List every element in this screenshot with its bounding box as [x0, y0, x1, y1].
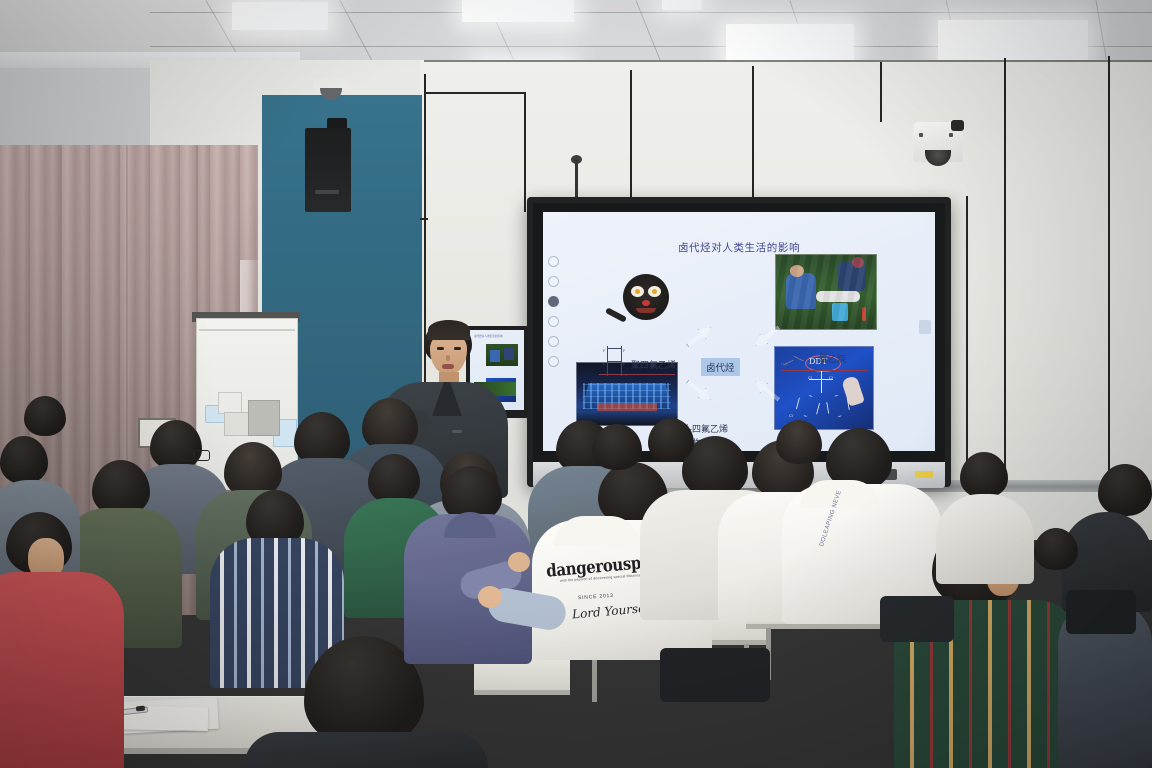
- instructor-eye-left: [437, 347, 444, 350]
- shapes-icon[interactable]: [548, 336, 559, 347]
- instructor-nose: [446, 355, 450, 361]
- whiteboard-frame-line: [880, 62, 882, 122]
- whiteboard-frame-line: [966, 196, 968, 486]
- ceiling-led-panel: [462, 0, 574, 22]
- undo-icon[interactable]: [548, 256, 559, 267]
- student-head: [960, 452, 1008, 498]
- whiteboard-frame-line: [424, 92, 526, 94]
- student-head: [1034, 528, 1078, 570]
- chair-back: [660, 648, 770, 702]
- pan-handle: [605, 307, 627, 323]
- student-head: [648, 418, 694, 462]
- eyeglasses: [194, 450, 210, 461]
- whiteboard-frame-line: [524, 92, 526, 212]
- smartboard-toolbar[interactable]: [546, 254, 560, 372]
- ptfe-structure-sketch: F F F F n: [601, 346, 631, 376]
- cabinet-plate: [248, 400, 280, 436]
- sports-injury-photo: [775, 254, 877, 330]
- preview-title: 卤代烃对人类生活的影响: [474, 334, 503, 338]
- student-head: [368, 454, 420, 504]
- chair-back: [1066, 590, 1136, 634]
- whiteboard-frame-line: [1004, 58, 1006, 488]
- wall-junction-box: [218, 392, 242, 414]
- student-head: [150, 420, 202, 470]
- label-ptfe: 聚四氟乙烯: [631, 358, 676, 371]
- smartboard-logo: [915, 471, 933, 478]
- ceiling-microphone: [575, 160, 578, 202]
- student-body-foreground: [244, 732, 488, 768]
- student-head: [0, 436, 48, 484]
- student-head: [24, 396, 66, 436]
- arrow-down-left: [683, 376, 715, 405]
- redo-icon[interactable]: [548, 276, 559, 287]
- smartboard-screen[interactable]: 卤代烃对人类生活的影响: [543, 212, 935, 451]
- whiteboard-frame-line: [1108, 56, 1110, 490]
- desk-edge: [474, 690, 570, 695]
- jacket-zipper-pull: [452, 430, 462, 433]
- student-head: [592, 424, 642, 470]
- eraser-icon[interactable]: [548, 316, 559, 327]
- label-chloroethane: 氯乙烷: [819, 352, 846, 365]
- classroom-photo: 卤代烃对人类生活的影响: [0, 0, 1152, 768]
- student-red-sweater: [0, 572, 124, 768]
- pen-icon[interactable]: [548, 296, 559, 307]
- ceiling-led-panel: [232, 2, 328, 30]
- slide-title: 卤代烃对人类生活的影响: [678, 240, 800, 255]
- student-body: [936, 494, 1034, 584]
- arrow-up-left: [683, 322, 715, 351]
- hood: [554, 516, 640, 546]
- instructor-mouth: [442, 364, 454, 369]
- whiteboard-frame-line: [420, 218, 428, 220]
- smartboard-side-handle[interactable]: [919, 320, 931, 334]
- whiteboard-top-edge: [424, 60, 1152, 62]
- ceiling-led-panel: [662, 0, 702, 10]
- chloroethane-sketch: H₃C Cl: [781, 356, 815, 366]
- chair-back: [880, 596, 954, 642]
- student-head: [1098, 464, 1152, 516]
- instructor-fringe: [428, 320, 470, 340]
- whiteboard-frame-line: [752, 66, 754, 198]
- student-head: [776, 420, 822, 464]
- instructor-eye-right: [454, 347, 461, 350]
- student-hand: [478, 586, 502, 608]
- student-hand: [508, 552, 530, 572]
- whiteboard-frame-line: [630, 70, 632, 200]
- slide-center-label: 卤代烃: [701, 358, 740, 376]
- pen-tip: [136, 706, 145, 712]
- wall-speaker: [305, 128, 351, 212]
- menu-icon[interactable]: [548, 356, 559, 367]
- nonstick-pan-photo: [623, 274, 669, 320]
- eyeglasses: [178, 450, 194, 461]
